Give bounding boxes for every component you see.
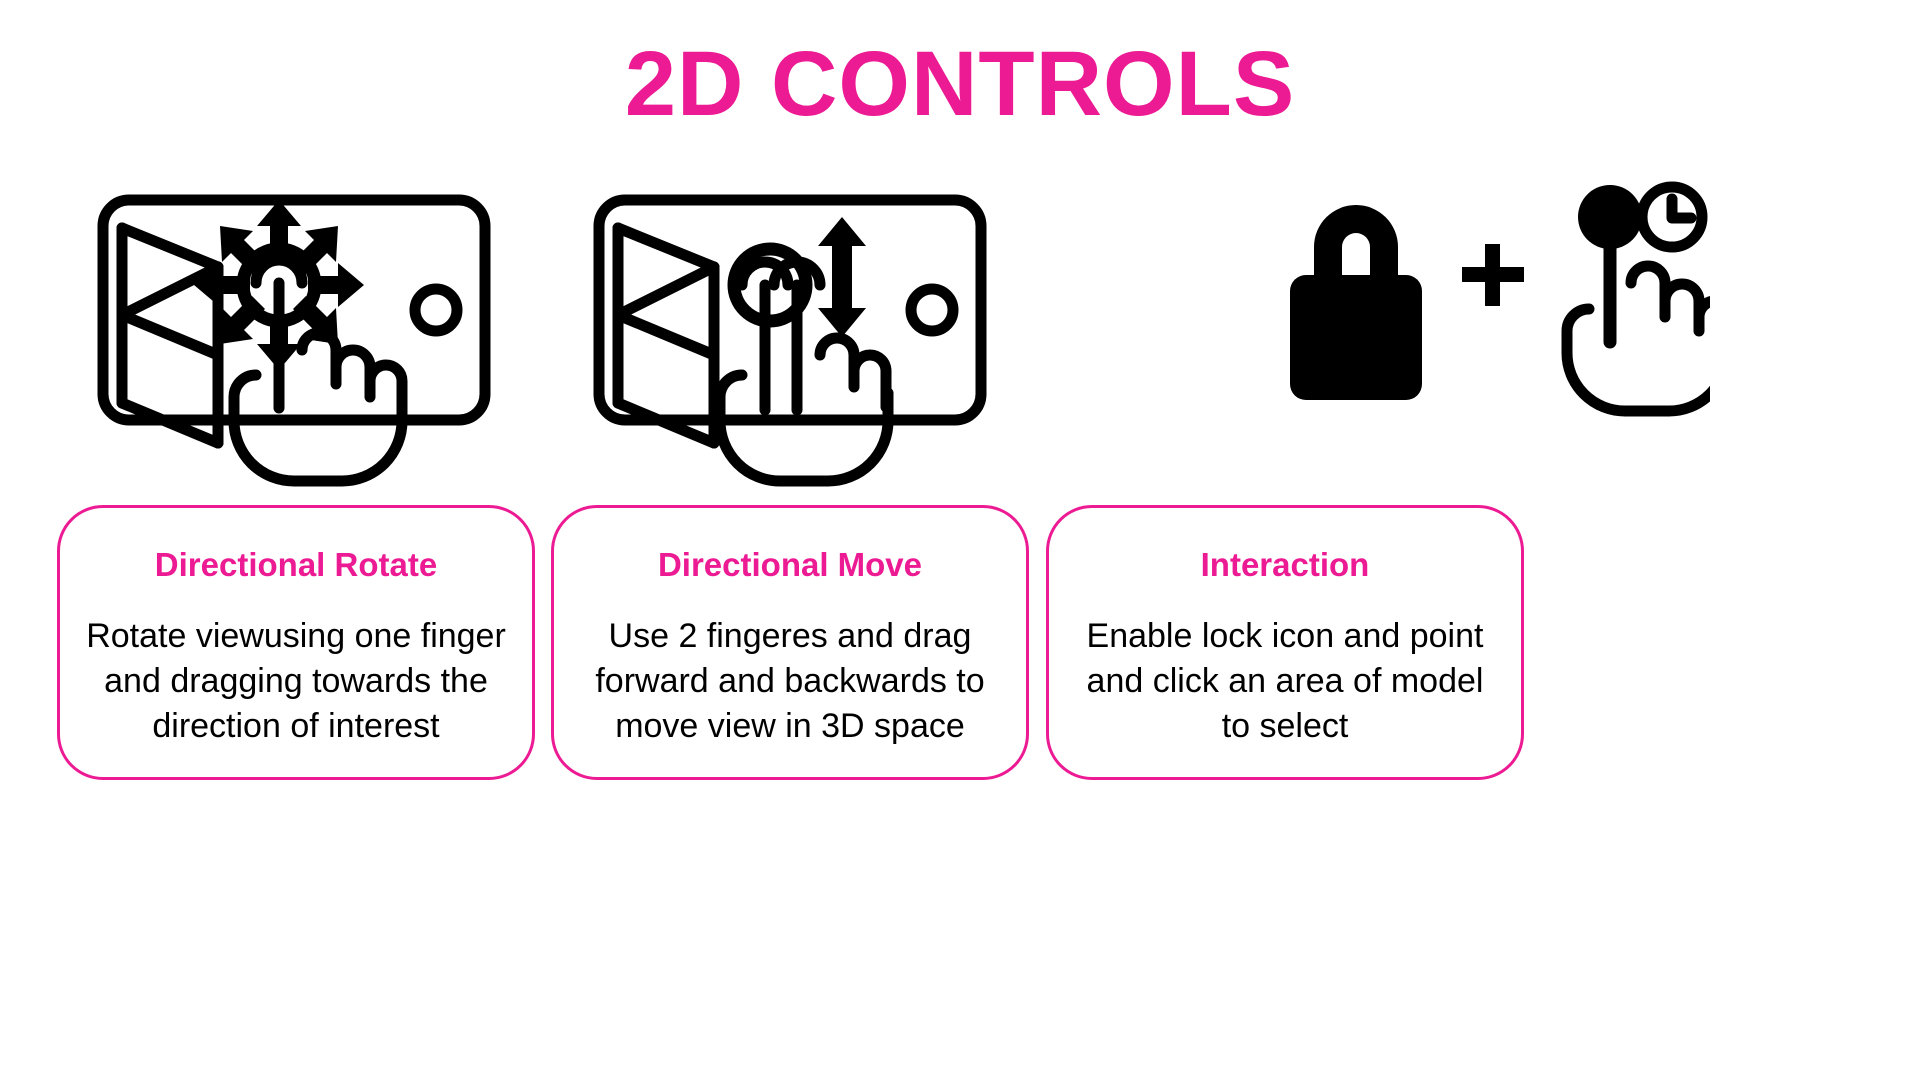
card-title: Directional Move [576, 546, 1004, 584]
lock-icon [1290, 205, 1422, 400]
plus-icon [1462, 244, 1524, 306]
info-card-interaction[interactable]: Interaction Enable lock icon and point a… [1046, 505, 1524, 780]
icon-row [0, 175, 1920, 505]
3d-box-wireframe [618, 228, 714, 443]
info-card-directional-rotate[interactable]: Directional Rotate Rotate viewusing one … [57, 505, 535, 780]
card-body: Rotate viewusing one finger and dragging… [82, 614, 510, 749]
tablet-directional-rotate-icon [96, 175, 496, 505]
page-title: 2D CONTROLS [0, 34, 1920, 134]
home-button-icon [911, 289, 953, 331]
card-body: Use 2 fingeres and drag forward and back… [576, 614, 1004, 749]
home-button-icon [415, 289, 457, 331]
tablet-directional-move-icon [592, 175, 997, 505]
card-row: Directional Rotate Rotate viewusing one … [0, 505, 1920, 790]
3d-box-wireframe [122, 228, 218, 443]
info-card-directional-move[interactable]: Directional Move Use 2 fingeres and drag… [551, 505, 1029, 780]
lock-plus-tap-hold-icon [1290, 175, 1710, 505]
clock-icon [1642, 187, 1702, 247]
up-down-arrow-icon [818, 217, 866, 337]
card-title: Directional Rotate [82, 546, 510, 584]
card-title: Interaction [1071, 546, 1499, 584]
two-finger-hand-icon [720, 249, 888, 481]
card-body: Enable lock icon and point and click an … [1071, 614, 1499, 749]
